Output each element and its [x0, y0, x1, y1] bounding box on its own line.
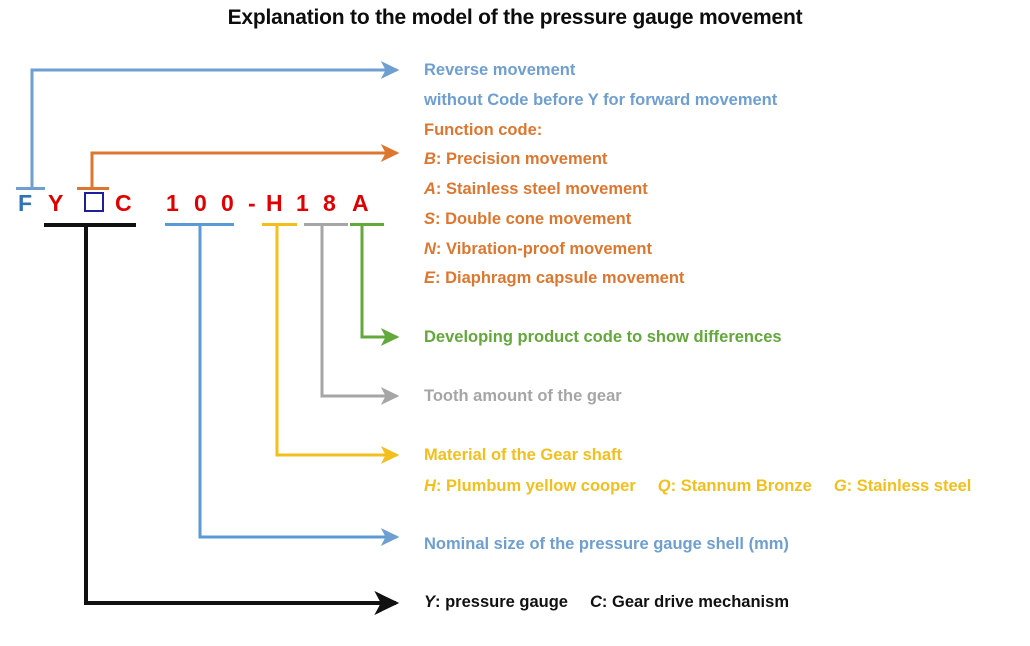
code-char-a: A	[352, 192, 369, 215]
function-code-desc-s: : Double cone movement	[435, 210, 631, 228]
code-char-dash: -	[248, 192, 256, 215]
leader-function-code	[92, 153, 397, 188]
base-code-letter-y: Y	[424, 593, 435, 611]
material-code-desc-q: : Stannum Bronze	[671, 477, 812, 495]
annotation-function-code-s: S: Double cone movement	[424, 211, 631, 228]
annotation-material-codes: H: Plumbum yellow cooperQ: Stannum Bronz…	[424, 478, 971, 495]
annotation-function-code-header: Function code:	[424, 122, 542, 139]
material-code-desc-h: : Plumbum yellow cooper	[436, 477, 636, 495]
code-char-1a: 1	[166, 192, 179, 215]
leader-material	[277, 224, 397, 455]
annotation-function-code-e: E: Diaphragm capsule movement	[424, 270, 684, 287]
annotation-reverse-movement: Reverse movement	[424, 62, 575, 79]
code-char-0a: 0	[194, 192, 207, 215]
code-char-8: 8	[323, 192, 336, 215]
code-char-h: H	[266, 192, 283, 215]
leader-nominal-size	[200, 224, 397, 537]
function-code-desc-a: : Stainless steel movement	[436, 180, 648, 198]
function-code-desc-n: : Vibration-proof movement	[436, 240, 652, 258]
annotation-developing-code: Developing product code to show differen…	[424, 329, 782, 346]
annotation-base-codes: Y: pressure gaugeC: Gear drive mechanism	[424, 594, 789, 611]
annotation-material-header: Material of the Gear shaft	[424, 447, 622, 464]
base-code-letter-c: C	[590, 593, 602, 611]
code-char-1b: 1	[296, 192, 309, 215]
function-code-letter-b: B	[424, 150, 436, 168]
function-code-desc-e: : Diaphragm capsule movement	[435, 269, 684, 287]
diagram-canvas: Explanation to the model of the pressure…	[0, 0, 1030, 646]
material-code-desc-g: : Stainless steel	[847, 477, 972, 495]
base-code-desc-c: : Gear drive mechanism	[602, 593, 789, 611]
code-char-c: C	[115, 192, 132, 215]
function-code-letter-s: S	[424, 210, 435, 228]
annotation-function-code-n: N: Vibration-proof movement	[424, 241, 652, 258]
annotation-nominal-size: Nominal size of the pressure gauge shell…	[424, 536, 789, 553]
material-code-letter-h: H	[424, 477, 436, 495]
leader-tooth-amount	[322, 224, 397, 396]
annotation-function-code-b: B: Precision movement	[424, 151, 607, 168]
code-char-y: Y	[48, 192, 63, 215]
code-char-box-placeholder	[84, 192, 104, 212]
code-char-0b: 0	[221, 192, 234, 215]
function-code-desc-b: : Precision movement	[436, 150, 607, 168]
code-char-f: F	[18, 192, 32, 215]
function-code-letter-n: N	[424, 240, 436, 258]
function-code-letter-e: E	[424, 269, 435, 287]
function-code-letter-a: A	[424, 180, 436, 198]
leader-developing-code	[362, 224, 397, 337]
annotation-function-code-a: A: Stainless steel movement	[424, 181, 648, 198]
base-code-desc-y: : pressure gauge	[435, 593, 568, 611]
leader-base-codes	[86, 225, 396, 603]
material-code-letter-g: G	[834, 477, 847, 495]
annotation-forward-note: without Code before Y for forward moveme…	[424, 92, 777, 109]
leader-reverse-movement	[32, 70, 397, 188]
material-code-letter-q: Q	[658, 477, 671, 495]
annotation-tooth-amount: Tooth amount of the gear	[424, 388, 622, 405]
